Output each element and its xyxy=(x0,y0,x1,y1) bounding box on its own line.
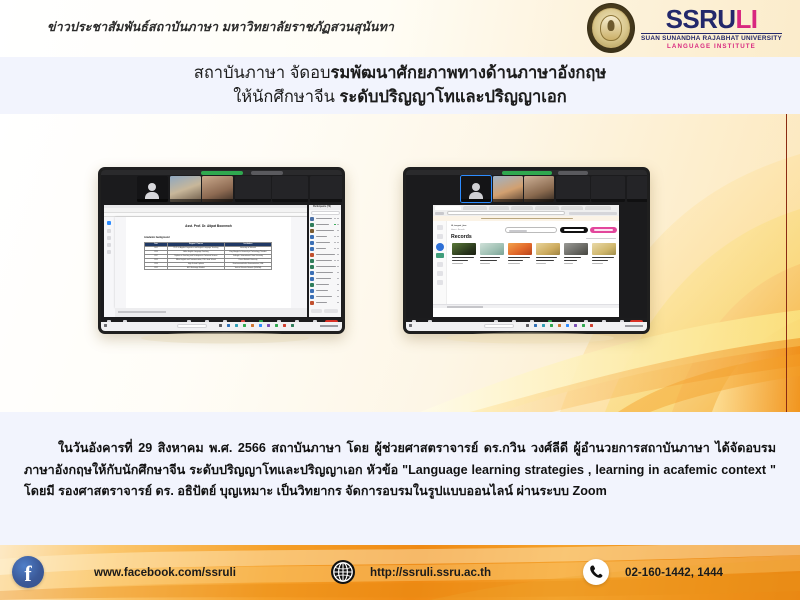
table-cell: 1992 xyxy=(145,266,168,270)
footer-website[interactable]: http://ssruli.ssru.ac.th xyxy=(330,559,491,585)
taskbar-search-input[interactable] xyxy=(177,324,207,328)
video-tile-participant-1[interactable] xyxy=(170,176,201,202)
taskbar-app-icon[interactable] xyxy=(582,324,585,327)
participants-more-button[interactable] xyxy=(324,309,338,313)
video-tile-self[interactable] xyxy=(137,176,168,202)
rail-item-2[interactable] xyxy=(107,229,111,233)
document-title: Asst. Prof. Dr. Atipat Boonmoh xyxy=(126,224,291,228)
record-card[interactable] xyxy=(480,243,504,265)
video-tile-participant-5[interactable] xyxy=(627,176,648,202)
taskbar-system-tray xyxy=(625,325,643,327)
participant-row[interactable] xyxy=(310,294,340,299)
site-left-nav xyxy=(433,221,447,308)
phone-icon xyxy=(583,559,609,585)
word-status-bar xyxy=(115,308,307,317)
participant-row[interactable] xyxy=(310,216,340,221)
poster-title-band: สถาบันภาษา จัดอบรมพัฒนาศักยภาพทางด้านภาษ… xyxy=(0,57,800,114)
rail-item-3[interactable] xyxy=(107,236,111,240)
footer-phone[interactable]: 02-160-1442, 1444 xyxy=(583,559,723,585)
search-input[interactable] xyxy=(505,227,557,233)
footer-phone-label: 02-160-1442, 1444 xyxy=(625,566,723,579)
record-card[interactable] xyxy=(508,243,532,265)
zoom-meeting-window: Hi, tongsai_jiras Home > Records Records xyxy=(406,170,647,331)
shared-screen-word-document: Asst. Prof. Dr. Atipat Boonmoh Academic … xyxy=(104,205,307,317)
taskbar-app-icon[interactable] xyxy=(235,324,238,327)
footer-website-label: http://ssruli.ssru.ac.th xyxy=(370,566,491,579)
facebook-icon: f xyxy=(12,556,44,588)
taskbar-app-icon[interactable] xyxy=(574,324,577,327)
participant-row[interactable] xyxy=(310,222,340,227)
taskbar-app-icon[interactable] xyxy=(542,324,545,327)
participant-row[interactable] xyxy=(310,234,340,239)
table-cell: Vertical Schools Network (NSWSA) xyxy=(225,266,272,270)
taskbar-app-icon[interactable] xyxy=(219,324,222,327)
taskbar-search-input[interactable] xyxy=(484,324,514,328)
video-tile-participant-1[interactable] xyxy=(493,176,523,202)
taskbar-app-icon[interactable] xyxy=(243,324,246,327)
taskbar-app-icon[interactable] xyxy=(275,324,278,327)
nav-item[interactable] xyxy=(437,271,443,276)
wordmark-divider xyxy=(641,33,782,34)
taskbar-app-icon[interactable] xyxy=(251,324,254,327)
browser-tab[interactable] xyxy=(463,206,487,210)
record-card[interactable] xyxy=(564,243,588,265)
taskbar-app-icon[interactable] xyxy=(227,324,230,327)
news-banner-label: ข่าวประชาสัมพันธ์สถาบันภาษา มหาวิทยาลัยร… xyxy=(47,17,394,37)
participants-panel-title: Participants (70) xyxy=(313,206,331,208)
breadcrumb: Hi, tongsai_jiras xyxy=(451,225,466,227)
taskbar-system-tray xyxy=(320,325,338,327)
wordmark-accent: LI xyxy=(735,6,757,32)
taskbar-app-icon[interactable] xyxy=(566,324,569,327)
taskbar-app-icon[interactable] xyxy=(534,324,537,327)
browser-tab-active[interactable] xyxy=(435,206,461,210)
browser-tab[interactable] xyxy=(585,206,611,210)
table-cell: AFS Exchange Student xyxy=(167,266,224,270)
participant-row[interactable] xyxy=(310,240,340,245)
nav-item[interactable] xyxy=(437,280,443,285)
video-tile-participant-2[interactable] xyxy=(202,176,233,202)
word-side-rail xyxy=(104,217,115,317)
participant-row[interactable] xyxy=(310,246,340,251)
secondary-action-button[interactable] xyxy=(590,227,617,233)
wordmark-primary: SSRU xyxy=(666,6,736,32)
taskbar-app-icon[interactable] xyxy=(283,324,286,327)
zoom-participants-panel: Participants (70) xyxy=(309,205,341,317)
poster-image-stage: Asst. Prof. Dr. Atipat Boonmoh Academic … xyxy=(0,114,800,412)
poster-body-band: ในวันอังคารที่ 29 สิงหาคม พ.ศ. 2566 สถาบ… xyxy=(0,412,800,545)
monitor-stand-shadow xyxy=(445,332,615,346)
wordmark-subtitle: SUAN SUNANDHA RAJABHAT UNIVERSITY xyxy=(641,36,782,42)
browser-extension-icons[interactable] xyxy=(569,212,617,215)
nav-item[interactable] xyxy=(436,253,444,258)
title-line-1-normal: สถาบันภาษา จัดอบ xyxy=(194,64,331,82)
university-seal-icon xyxy=(587,3,635,53)
browser-status-bar xyxy=(433,304,619,308)
nav-item-active[interactable] xyxy=(436,243,444,251)
participant-row[interactable] xyxy=(310,300,340,305)
poster-canvas: ข่าวประชาสัมพันธ์สถาบันภาษา มหาวิทยาลัยร… xyxy=(0,0,800,600)
title-line-1: สถาบันภาษา จัดอบรมพัฒนาศักยภาพทางด้านภาษ… xyxy=(194,62,607,85)
screenshot-zoom-browser-records: Hi, tongsai_jiras Home > Records Records xyxy=(403,167,650,334)
rail-item-5[interactable] xyxy=(107,250,111,254)
browser-nav-buttons[interactable] xyxy=(435,212,444,215)
browser-viewport: Hi, tongsai_jiras Home > Records Records xyxy=(433,216,619,308)
browser-tab[interactable] xyxy=(535,206,559,210)
nav-item[interactable] xyxy=(437,225,443,230)
participant-row[interactable] xyxy=(310,252,340,257)
article-paragraph: ในวันอังคารที่ 29 สิงหาคม พ.ศ. 2566 สถาบ… xyxy=(24,438,776,503)
academic-background-table: Year Degree / Course Institution 2002Ph.… xyxy=(144,242,272,270)
word-canvas: Asst. Prof. Dr. Atipat Boonmoh Academic … xyxy=(115,217,307,308)
rail-item-4[interactable] xyxy=(107,243,111,247)
windows-taskbar xyxy=(101,322,342,331)
participants-mute-all-button[interactable] xyxy=(311,309,322,313)
footer-facebook-label: www.facebook.com/ssruli xyxy=(94,566,236,579)
word-paper: Asst. Prof. Dr. Atipat Boonmoh Academic … xyxy=(126,217,291,308)
participant-row[interactable] xyxy=(310,264,340,269)
zoom-meeting-window: Asst. Prof. Dr. Atipat Boonmoh Academic … xyxy=(101,170,342,331)
zoom-screen-share-banner xyxy=(201,171,243,175)
screenshot-zoom-word-document: Asst. Prof. Dr. Atipat Boonmoh Academic … xyxy=(98,167,345,334)
browser-chrome xyxy=(433,205,619,216)
taskbar-start-icon[interactable] xyxy=(104,324,107,327)
video-tile-participant-2[interactable] xyxy=(524,176,554,202)
record-card[interactable] xyxy=(536,243,560,265)
poster-footer: f www.facebook.com/ssruli http://ssruli.… xyxy=(0,545,800,600)
document-subtitle: Academic background xyxy=(144,236,170,239)
zoom-video-tile-row xyxy=(137,176,342,202)
video-tile-participant-3[interactable] xyxy=(235,176,271,202)
article-paragraph-text: ในวันอังคารที่ 29 สิงหาคม พ.ศ. 2566 สถาบ… xyxy=(24,441,776,498)
site-notice-bar xyxy=(433,216,619,221)
video-tile-participant-4[interactable] xyxy=(591,176,625,202)
windows-taskbar xyxy=(406,322,647,331)
record-card[interactable] xyxy=(452,243,476,265)
ssruli-wordmark: SSRULI SUAN SUNANDHA RAJABHAT UNIVERSITY… xyxy=(641,6,782,51)
vertical-accent-line xyxy=(786,114,787,412)
shared-screen-web-browser: Hi, tongsai_jiras Home > Records Records xyxy=(433,205,619,317)
wordmark-subtitle-2: LANGUAGE INSTITUTE xyxy=(667,44,756,50)
participant-row[interactable] xyxy=(310,276,340,281)
video-tile-participant-3[interactable] xyxy=(556,176,590,202)
browser-address-bar[interactable] xyxy=(447,211,565,215)
participant-row[interactable] xyxy=(310,288,340,293)
breadcrumb-sub: Home > Records xyxy=(451,229,465,231)
globe-icon xyxy=(330,559,356,585)
participant-row[interactable] xyxy=(310,258,340,263)
browser-tab[interactable] xyxy=(511,206,533,210)
taskbar-app-icon[interactable] xyxy=(590,324,593,327)
zoom-screen-share-banner xyxy=(502,171,552,175)
browser-tab[interactable] xyxy=(561,206,583,210)
poster-header: ข่าวประชาสัมพันธ์สถาบันภาษา มหาวิทยาลัยร… xyxy=(0,0,800,57)
video-tile-participant-4[interactable] xyxy=(272,176,308,202)
nav-item[interactable] xyxy=(437,262,443,267)
title-line-2-bold: ระดับปริญญาโทและปริญญาเอก xyxy=(340,88,567,106)
browser-tab[interactable] xyxy=(489,206,509,210)
table-row: 1992AFS Exchange StudentVertical Schools… xyxy=(145,266,272,270)
participant-row[interactable] xyxy=(310,228,340,233)
rail-item-active[interactable] xyxy=(107,221,111,225)
taskbar-app-icon[interactable] xyxy=(267,324,270,327)
nav-item[interactable] xyxy=(437,234,443,239)
view-toggle[interactable] xyxy=(586,238,616,239)
taskbar-app-icon[interactable] xyxy=(550,324,553,327)
taskbar-app-icon[interactable] xyxy=(291,324,294,327)
video-tile-participant-5[interactable] xyxy=(310,176,343,202)
video-tile-self[interactable] xyxy=(461,176,491,202)
participant-row[interactable] xyxy=(310,270,340,275)
record-card[interactable] xyxy=(592,243,616,265)
participants-search-input[interactable] xyxy=(311,211,340,215)
zoom-share-controls-pill xyxy=(558,171,588,175)
monitor-bezel: Asst. Prof. Dr. Atipat Boonmoh Academic … xyxy=(98,167,345,334)
taskbar-app-icon[interactable] xyxy=(558,324,561,327)
taskbar-start-icon[interactable] xyxy=(409,324,412,327)
monitor-stand-shadow xyxy=(140,332,310,346)
zoom-share-controls-pill xyxy=(251,171,283,175)
participant-row[interactable] xyxy=(310,282,340,287)
taskbar-app-icon[interactable] xyxy=(526,324,529,327)
page-title: Records xyxy=(451,234,472,240)
taskbar-app-icon[interactable] xyxy=(259,324,262,327)
ssruli-logo: SSRULI SUAN SUNANDHA RAJABHAT UNIVERSITY… xyxy=(587,3,782,53)
monitor-bezel: Hi, tongsai_jiras Home > Records Records xyxy=(403,167,650,334)
footer-facebook[interactable]: f www.facebook.com/ssruli xyxy=(12,556,236,588)
primary-action-button[interactable] xyxy=(560,227,588,233)
title-line-2-normal: ให้นักศึกษาจีน xyxy=(233,88,339,106)
zoom-video-tile-row xyxy=(461,176,647,202)
title-line-1-bold: รมพัฒนาศักยภาพทางด้านภาษาอังกฤษ xyxy=(330,64,606,82)
title-line-2: ให้นักศึกษาจีน ระดับปริญญาโทและปริญญาเอก xyxy=(233,86,567,109)
